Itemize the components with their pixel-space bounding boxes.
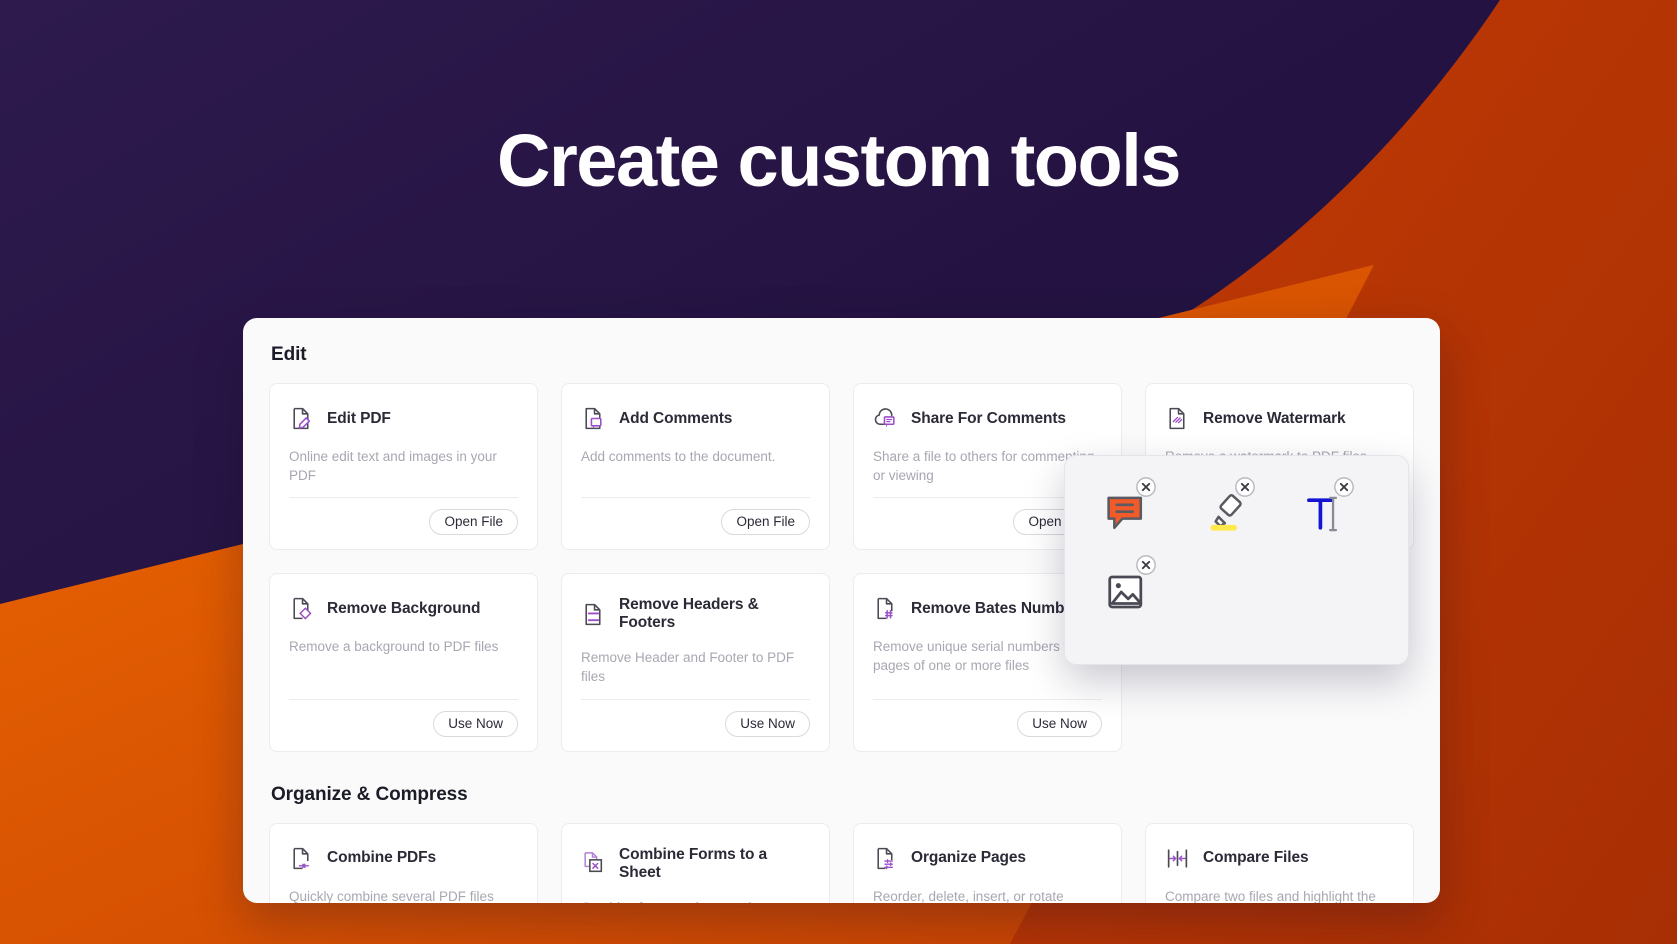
- use-now-button[interactable]: Use Now: [725, 711, 810, 737]
- card-description: Compare two files and highlight the diff…: [1165, 887, 1394, 903]
- section-title-organize: Organize & Compress: [271, 784, 1414, 806]
- tool-card-combine-forms-to-sheet[interactable]: Combine Forms to a Sheet Combine forms a…: [561, 823, 830, 903]
- card-header: Combine Forms to a Sheet: [581, 846, 810, 882]
- remove-badge-icon[interactable]: [1333, 476, 1355, 498]
- card-actions: Use Now: [873, 700, 1102, 737]
- remove-badge-icon[interactable]: [1234, 476, 1256, 498]
- card-title: Edit PDF: [327, 410, 391, 428]
- compare-files-icon: [1165, 846, 1190, 871]
- open-file-button[interactable]: Open File: [429, 509, 518, 535]
- cloud-comment-icon: [873, 406, 898, 431]
- card-header: Combine PDFs: [289, 846, 518, 871]
- tool-item-text[interactable]: [1289, 478, 1361, 550]
- tool-card-remove-background[interactable]: Remove Background Remove a background to…: [269, 573, 538, 751]
- card-actions: Open File: [581, 498, 810, 535]
- open-file-button[interactable]: Open File: [721, 509, 810, 535]
- document-organize-icon: [873, 846, 898, 871]
- card-actions: Open File: [289, 498, 518, 535]
- card-title: Compare Files: [1203, 849, 1309, 867]
- tools-grid: [1091, 478, 1382, 628]
- page-title: Create custom tools: [0, 118, 1677, 203]
- card-header: Remove Watermark: [1165, 406, 1394, 431]
- tool-item-comment[interactable]: [1091, 478, 1163, 550]
- card-header: Compare Files: [1165, 846, 1394, 871]
- card-header: Share For Comments: [873, 406, 1102, 431]
- section-title-edit: Edit: [271, 344, 1414, 366]
- use-now-button[interactable]: Use Now: [1017, 711, 1102, 737]
- use-now-button[interactable]: Use Now: [433, 711, 518, 737]
- document-diamond-icon: [289, 596, 314, 621]
- card-description: Quickly combine several PDF files into o…: [289, 887, 518, 903]
- card-title: Remove Headers & Footers: [619, 596, 810, 632]
- documents-merge-icon: [289, 846, 314, 871]
- card-description: Remove Header and Footer to PDF files: [581, 648, 810, 686]
- document-watermark-icon: [1165, 406, 1190, 431]
- card-actions: Use Now: [289, 700, 518, 737]
- card-description: Add comments to the document.: [581, 447, 810, 485]
- card-title: Share For Comments: [911, 410, 1066, 428]
- card-title: Remove Watermark: [1203, 410, 1346, 428]
- card-header: Remove Background: [289, 596, 518, 621]
- document-comment-icon: [581, 406, 606, 431]
- card-title: Organize Pages: [911, 849, 1026, 867]
- card-description: Remove a background to PDF files: [289, 637, 518, 686]
- annotation-tools-popover[interactable]: [1064, 455, 1409, 665]
- tool-card-add-comments[interactable]: Add Comments Add comments to the documen…: [561, 383, 830, 550]
- forms-sheet-icon: [581, 851, 606, 876]
- card-header: Remove Headers & Footers: [581, 596, 810, 632]
- tool-card-edit-pdf[interactable]: Edit PDF Online edit text and images in …: [269, 383, 538, 550]
- card-header: Add Comments: [581, 406, 810, 431]
- remove-badge-icon[interactable]: [1135, 554, 1157, 576]
- card-header: Organize Pages: [873, 846, 1102, 871]
- remove-badge-icon[interactable]: [1135, 476, 1157, 498]
- card-description: Reorder, delete, insert, or rotate pages: [873, 887, 1102, 903]
- document-lines-icon: [581, 602, 606, 627]
- organize-cards-grid: Combine PDFs Quickly combine several PDF…: [269, 823, 1414, 903]
- card-actions: Use Now: [581, 700, 810, 737]
- card-title: Add Comments: [619, 410, 732, 428]
- tool-item-image[interactable]: [1091, 556, 1163, 628]
- screen-root: Create custom tools Edit Edit PDF: [0, 0, 1677, 944]
- document-hash-icon: [873, 596, 898, 621]
- tool-card-remove-headers-footers[interactable]: Remove Headers & Footers Remove Header a…: [561, 573, 830, 751]
- document-pencil-icon: [289, 406, 314, 431]
- card-description: Combine forms and export data to a sheet…: [581, 898, 810, 903]
- card-title: Combine PDFs: [327, 849, 436, 867]
- tool-card-organize-pages[interactable]: Organize Pages Reorder, delete, insert, …: [853, 823, 1122, 903]
- card-title: Combine Forms to a Sheet: [619, 846, 810, 882]
- card-title: Remove Background: [327, 600, 480, 618]
- card-header: Edit PDF: [289, 406, 518, 431]
- tool-item-highlight[interactable]: [1190, 478, 1262, 550]
- card-description: Online edit text and images in your PDF: [289, 447, 518, 485]
- tool-card-combine-pdfs[interactable]: Combine PDFs Quickly combine several PDF…: [269, 823, 538, 903]
- tool-card-compare-files[interactable]: Compare Files Compare two files and high…: [1145, 823, 1414, 903]
